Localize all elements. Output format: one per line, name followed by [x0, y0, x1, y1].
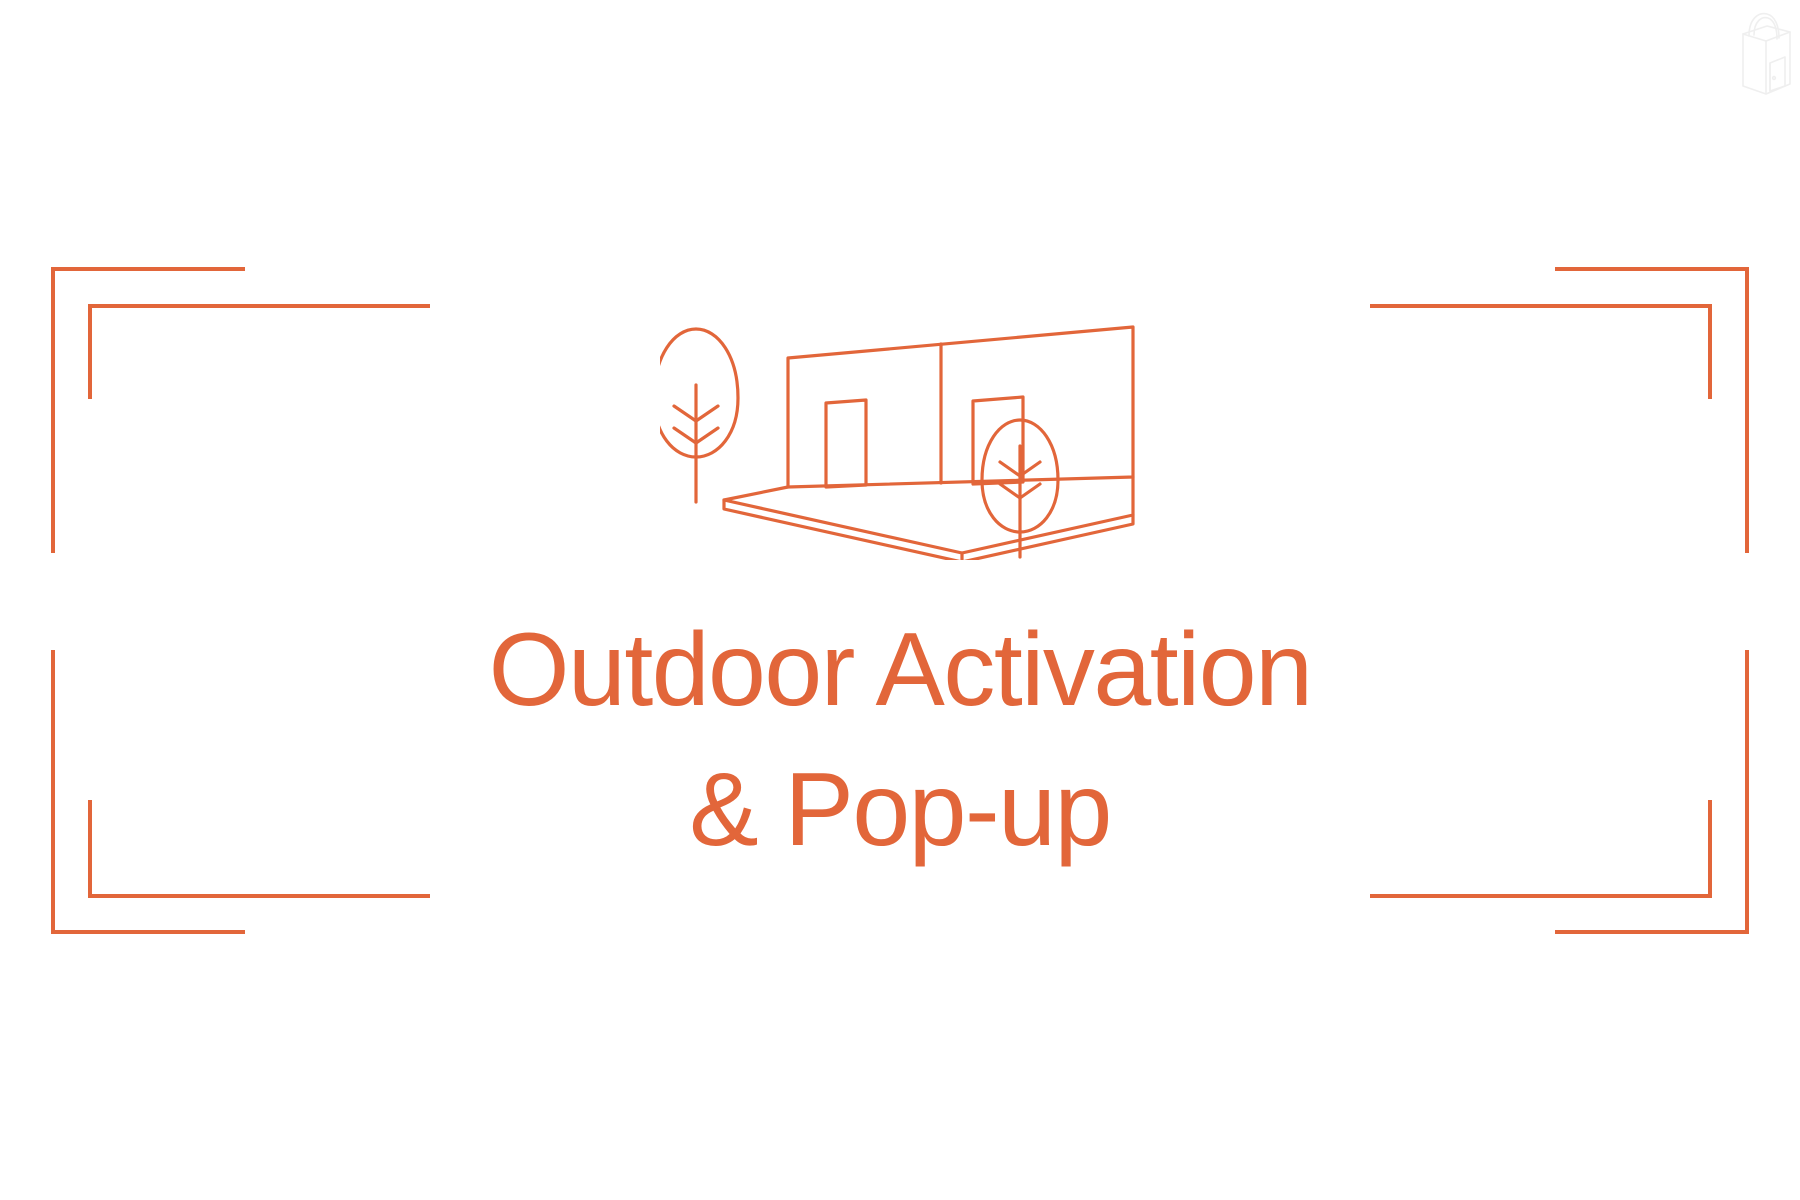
- platform-deck: [724, 477, 1133, 560]
- outdoor-storefront-pavilion-icon: [660, 310, 1150, 560]
- bracket-top-left-inner: [90, 306, 430, 399]
- door-opening-left: [826, 400, 866, 487]
- title-line-2: & Pop-up: [0, 740, 1800, 880]
- slide-canvas: Outdoor Activation & Pop-up: [0, 0, 1800, 1200]
- title-line-1: Outdoor Activation: [0, 600, 1800, 740]
- facade-wall: [788, 327, 1133, 487]
- bracket-top-left-outer: [53, 269, 245, 553]
- bracket-top-right-inner: [1370, 306, 1710, 399]
- page-title: Outdoor Activation & Pop-up: [0, 600, 1800, 880]
- tree-icon-right: [982, 420, 1058, 557]
- bracket-top-right-outer: [1555, 269, 1747, 553]
- tree-icon-left: [660, 329, 738, 502]
- shopping-bag-storefront-icon: [1733, 8, 1795, 100]
